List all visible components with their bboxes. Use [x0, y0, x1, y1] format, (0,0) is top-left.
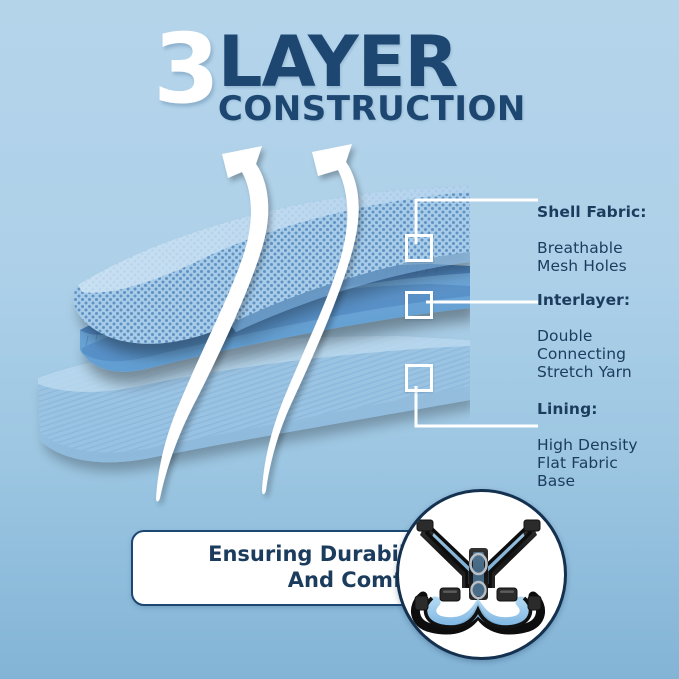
- fabric-layer-illustration: [0, 140, 470, 510]
- title-construction-word: CONSTRUCTION: [218, 92, 526, 126]
- title-stack: LAYER CONSTRUCTION: [218, 30, 526, 126]
- callout-heading-lining: Lining:: [537, 401, 638, 419]
- callout-heading-interlayer: Interlayer:: [537, 292, 632, 310]
- callout-text-lining: Lining: High Density Flat Fabric Base: [537, 383, 638, 509]
- dog-harness: [399, 492, 558, 651]
- callout-body-interlayer: Double Connecting Stretch Yarn: [537, 328, 632, 382]
- title-number: 3: [153, 28, 216, 111]
- title-layer-word: LAYER: [218, 30, 458, 94]
- product-image-circle: [396, 489, 567, 660]
- callout-marker-shell: [405, 234, 433, 262]
- callout-body-lining: High Density Flat Fabric Base: [537, 437, 638, 491]
- callout-body-shell: Breathable Mesh Holes: [537, 240, 647, 276]
- callout-marker-interlayer: [405, 291, 433, 319]
- harness-belly-straps: [415, 596, 540, 630]
- callout-text-interlayer: Interlayer: Double Connecting Stretch Ya…: [537, 274, 632, 400]
- page-title: 3 LAYER CONSTRUCTION: [0, 30, 679, 126]
- callout-marker-lining: [405, 364, 433, 392]
- title-row: 3 LAYER CONSTRUCTION: [0, 30, 679, 126]
- poster-canvas: 3 LAYER CONSTRUCTION: [0, 0, 679, 679]
- callout-heading-shell: Shell Fabric:: [537, 204, 647, 222]
